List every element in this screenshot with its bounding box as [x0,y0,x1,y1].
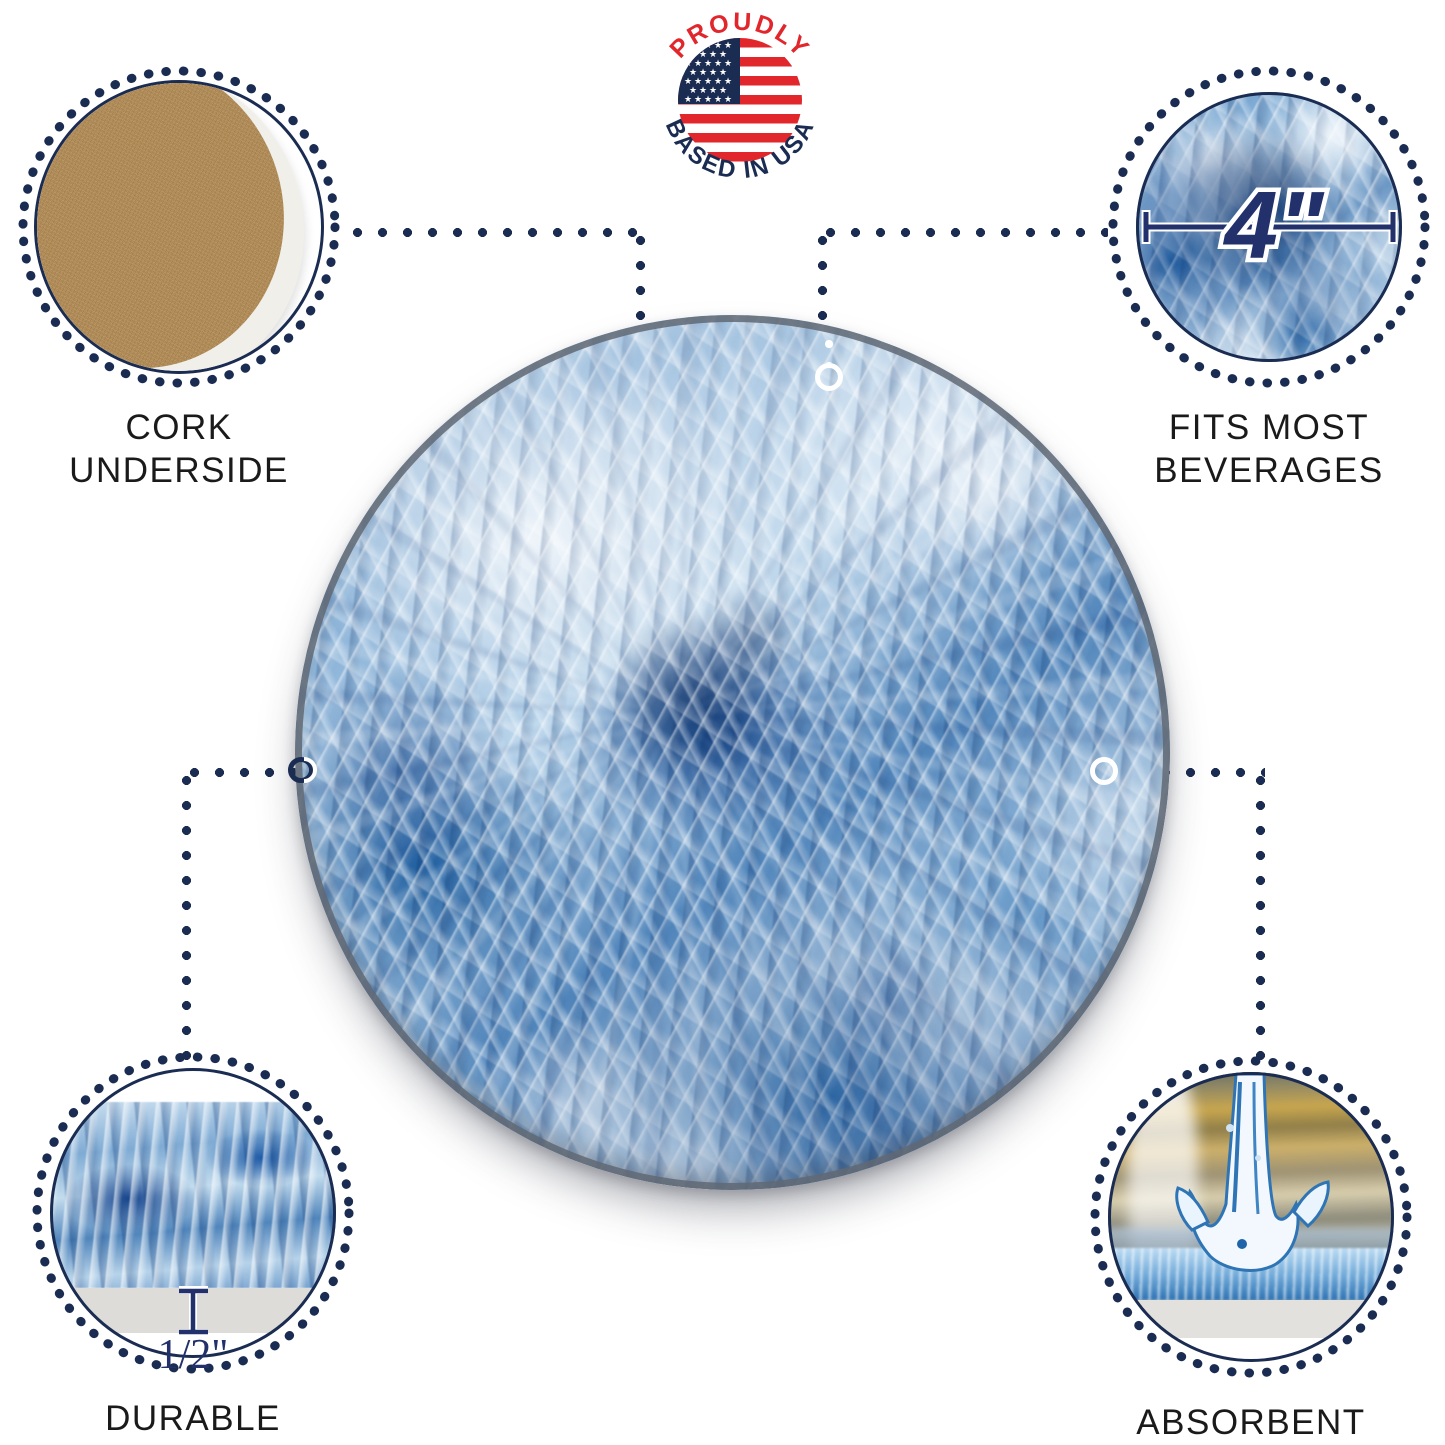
measurement-value-half-inch: 1/2" [158,1332,229,1378]
marble-sheen-layer [295,315,1170,1190]
callout-label-absorbent: ABSORBENT [1062,1402,1440,1445]
cork-underside-image [34,80,324,374]
callout-marker-top-dots [825,333,833,363]
callout-marker-top [815,363,843,391]
measurement-value-4in: 4" [1223,172,1325,279]
connector-line-durable-vertical [182,768,191,1093]
svg-text:★: ★ [684,94,692,104]
callout-label-durable: DURABLE [4,1398,382,1441]
usa-badge-svg: ★★★ ★★ ★★★ ★ ★★★ ★★ ★★★ ★ ★★★ ★★ ★★★ ★ ★… [640,0,840,200]
water-splash-image [1108,1072,1394,1362]
svg-text:★: ★ [724,94,732,104]
connector-line-beverages-horizontal [818,228,1108,237]
svg-text:★: ★ [704,94,712,104]
connector-line-absorbent-vertical [1256,768,1265,1093]
svg-text:★: ★ [714,94,722,104]
callout-label-cork-underside: CORK UNDERSIDE [0,407,368,492]
callout-durable: 1/2" DURABLE [32,1048,354,1378]
thickness-measure-icon: 1/2" [32,1048,354,1378]
cork-layer-band [1108,1300,1394,1338]
infographic-canvas: ★★★ ★★ ★★★ ★ ★★★ ★★ ★★★ ★ ★★★ ★★ ★★★ ★ ★… [0,0,1445,1445]
callout-fits-most-beverages: 4" FITS MOST BEVERAGES [1108,62,1430,392]
proudly-based-in-usa-badge: ★★★ ★★ ★★★ ★ ★★★ ★★ ★★★ ★ ★★★ ★★ ★★★ ★ ★… [640,0,840,200]
svg-text:★: ★ [694,94,702,104]
callout-cork-underside: CORK UNDERSIDE [18,62,340,392]
diameter-measure-icon: 4" [1108,62,1430,392]
main-product-coaster [295,315,1170,1190]
callout-label-fits-most-beverages: FITS MOST BEVERAGES [1080,407,1445,492]
cork-texture-surface [34,80,324,374]
callout-marker-right [1090,757,1118,785]
callout-absorbent: ABSORBENT [1090,1052,1412,1382]
connector-line-cork-horizontal [345,228,645,237]
